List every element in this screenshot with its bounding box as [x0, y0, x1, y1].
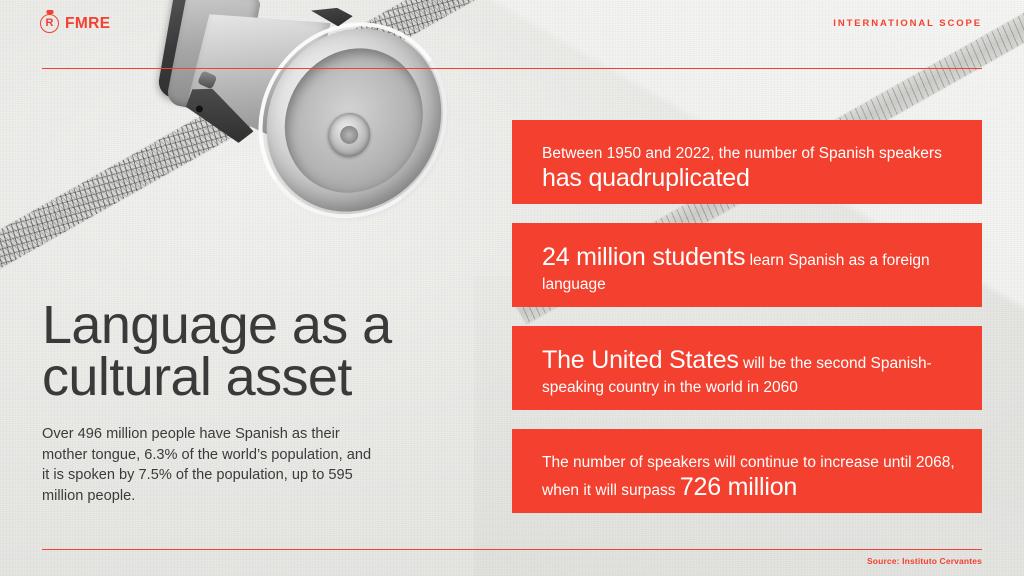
- fact-text: The number of speakers will continue to …: [542, 451, 960, 503]
- fact-card: The United States will be the second Spa…: [512, 326, 982, 410]
- kicker-label: INTERNATIONAL SCOPE: [833, 18, 982, 29]
- fact-card: 24 million students learn Spanish as a f…: [512, 223, 982, 307]
- fact-lead: Between 1950 and 2022, the number of Spa…: [542, 145, 942, 162]
- fact-highlight: 726 million: [680, 473, 797, 501]
- divider-rule-bottom: [42, 549, 982, 550]
- infographic-slide: R FMRE INTERNATIONAL SCOPE Language as a…: [0, 0, 1024, 576]
- logo-wordmark: FMRE: [65, 15, 111, 33]
- fact-highlight: The United States: [542, 346, 739, 374]
- logo-mark-letter: R: [46, 18, 54, 29]
- fact-text: Between 1950 and 2022, the number of Spa…: [542, 142, 960, 194]
- page-title: Language as a cultural asset: [42, 299, 472, 404]
- fact-highlight: 24 million students: [542, 243, 745, 271]
- fact-card: Between 1950 and 2022, the number of Spa…: [512, 120, 982, 204]
- fact-list: Between 1950 and 2022, the number of Spa…: [512, 120, 982, 513]
- fact-text: 24 million students learn Spanish as a f…: [542, 245, 960, 297]
- source-credit: Source: Instituto Cervantes: [867, 556, 982, 566]
- fact-text: The United States will be the second Spa…: [542, 348, 960, 400]
- stopwatch-r-icon: R: [40, 14, 59, 33]
- brand-logo[interactable]: R FMRE: [40, 14, 111, 33]
- divider-rule-top: [42, 68, 982, 69]
- intro-paragraph: Over 496 million people have Spanish as …: [42, 424, 372, 507]
- fact-highlight: has quadruplicated: [542, 164, 750, 192]
- fact-card: The number of speakers will continue to …: [512, 429, 982, 513]
